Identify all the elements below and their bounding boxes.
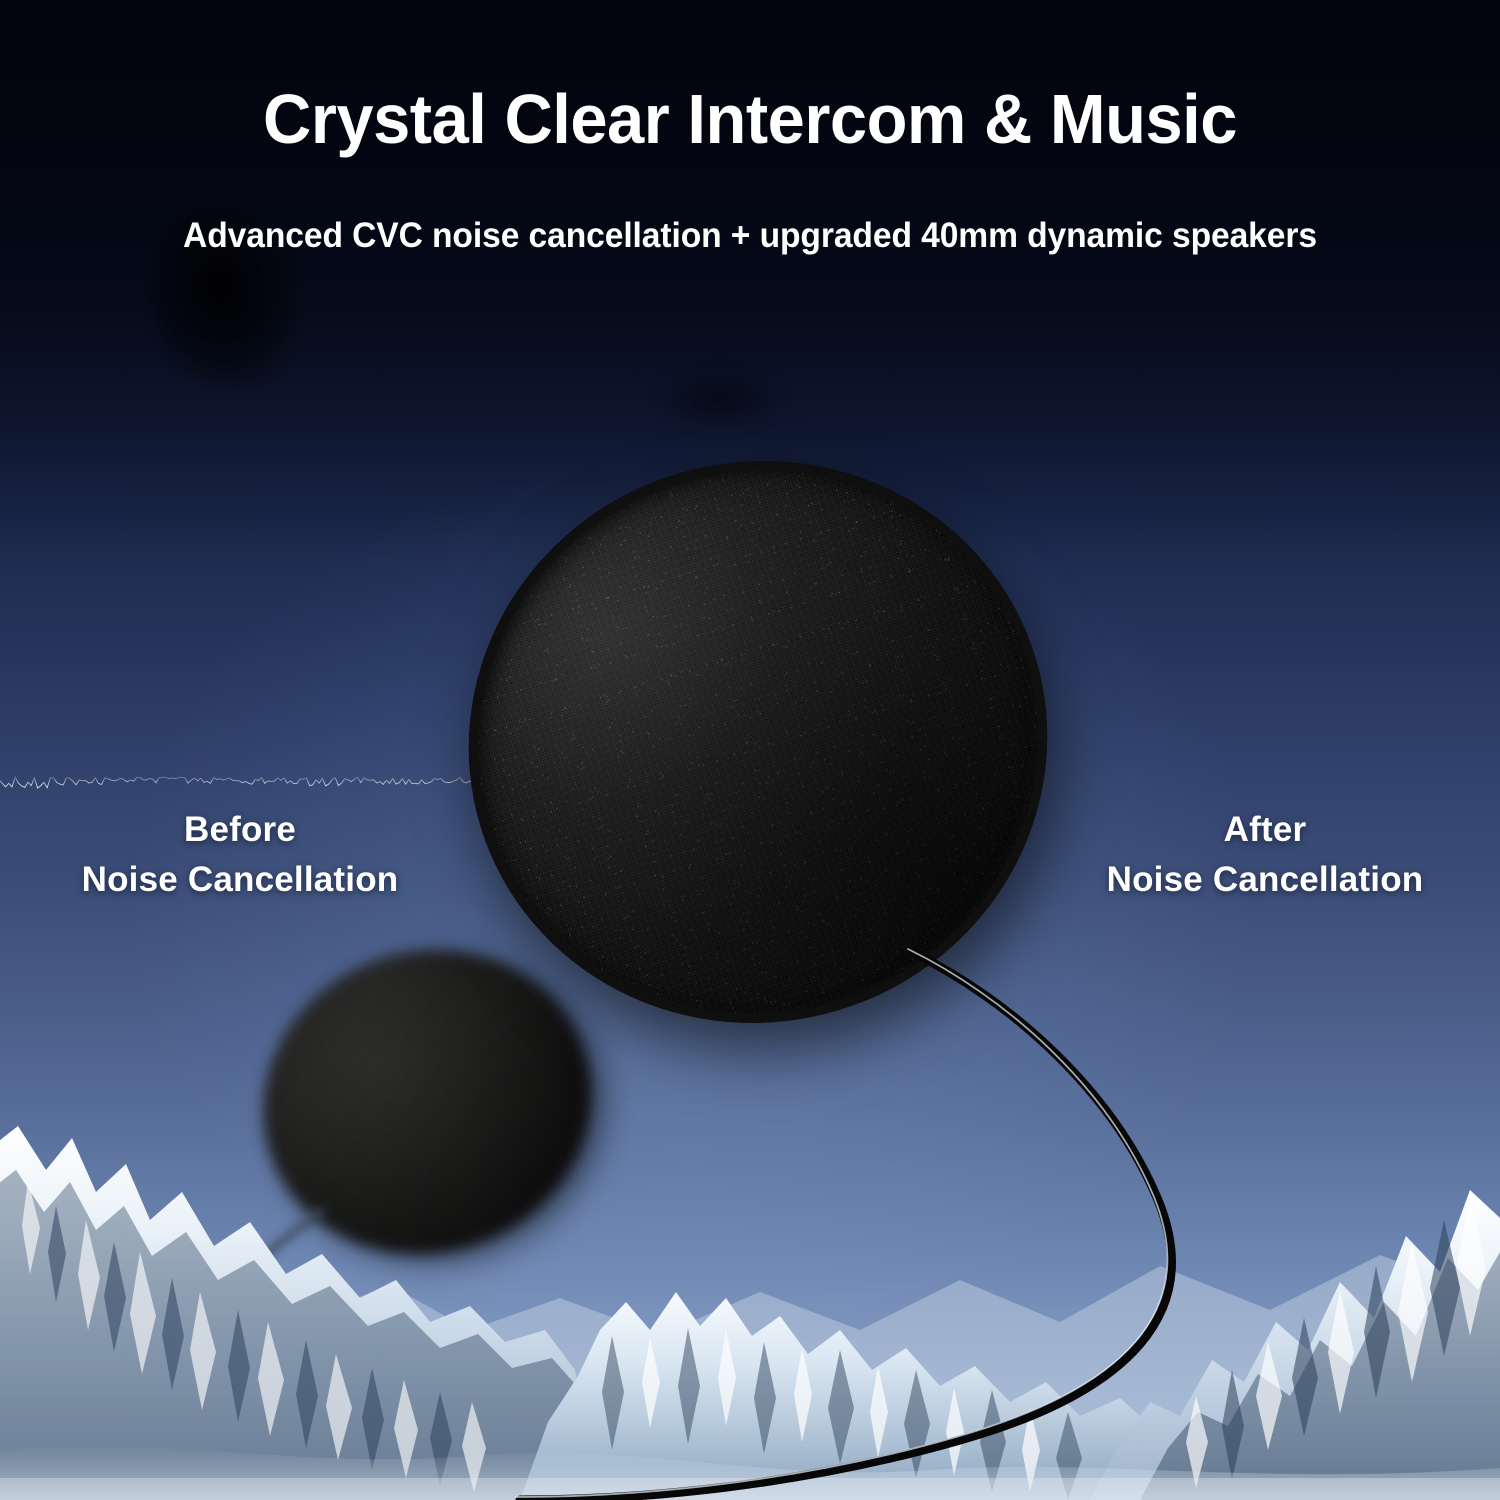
label-after-line1: After <box>1055 805 1475 855</box>
label-after-line2: Noise Cancellation <box>1055 855 1475 905</box>
promo-image: Crystal Clear Intercom & Music Advanced … <box>0 0 1500 1500</box>
primary-speaker-driver <box>468 462 1048 1022</box>
page-title: Crystal Clear Intercom & Music <box>34 84 1467 154</box>
label-before-line1: Before <box>30 805 450 855</box>
page-subtitle: Advanced CVC noise cancellation + upgrad… <box>30 218 1470 253</box>
label-before-noise-cancellation: Before Noise Cancellation <box>30 805 450 905</box>
dark-haze-blob <box>660 370 780 430</box>
speaker-rim-highlight <box>399 389 1117 1094</box>
label-before-line2: Noise Cancellation <box>30 855 450 905</box>
label-after-noise-cancellation: After Noise Cancellation <box>1055 805 1475 905</box>
snow-mountain-range <box>0 1030 1500 1500</box>
